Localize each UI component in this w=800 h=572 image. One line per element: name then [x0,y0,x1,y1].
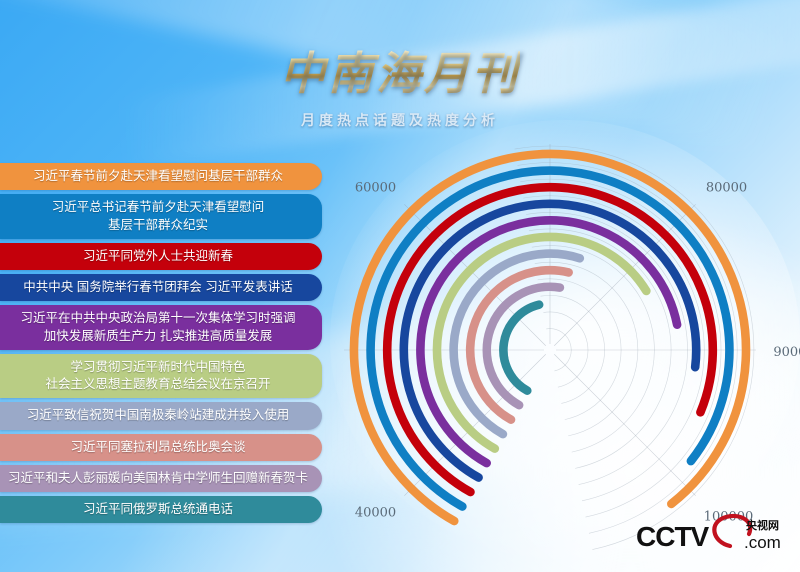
topic-legend-label: 习近平同塞拉利昂总统比奥会谈 [70,439,245,456]
topic-legend-item[interactable]: 习近平春节前夕赴天津看望慰问基层干部群众 [0,163,322,190]
topic-legend-item[interactable]: 习近平在中共中央政治局第十一次集体学习时强调 加快发展新质生产力 扎实推进高质量… [0,305,322,350]
grid-ring [520,179,721,517]
header: 中南海月刊 月度热点话题及热度分析 [0,48,800,130]
topic-legend-item[interactable]: 习近平同党外人士共迎新春 [0,243,322,270]
cctv-cn-text: 央视网 [746,518,779,532]
topic-legend-label: 习近平同俄罗斯总统通电话 [83,501,233,518]
axis-tick-label: 90000 [773,345,800,360]
radial-bar-arc[interactable] [503,305,539,391]
infographic-canvas: 中南海月刊 月度热点话题及热度分析 习近平春节前夕赴天津看望慰问基层干部群众习近… [0,0,800,572]
topic-legend-item[interactable]: 习近平致信祝贺中国南极秦岭站建成并投入使用 [0,402,322,429]
radial-chart-svg: 400005000060000700008000090000100000 [330,140,800,560]
topic-legend-label: 习近平和夫人彭丽媛向美国林肯中学师生回赠新春贺卡 [8,470,308,487]
page-subtitle: 月度热点话题及热度分析 [0,110,800,130]
topic-legend-label: 中共中央 国务院举行春节团拜会 习近平发表讲话 [23,279,292,296]
topic-legend-label: 习近平同党外人士共迎新春 [83,248,233,265]
topic-legend-label: 习近平致信祝贺中国南极秦岭站建成并投入使用 [27,407,290,424]
topic-legend-item[interactable]: 习近平同俄罗斯总统通电话 [0,496,322,523]
topic-legend-label: 习近平在中共中央政治局第十一次集体学习时强调 加快发展新质生产力 扎实推进高质量… [20,310,295,345]
topic-legend-item[interactable]: 习近平总书记春节前夕赴天津看望慰问 基层干部群众纪实 [0,194,322,239]
radial-bar-chart: 400005000060000700008000090000100000 [330,140,800,560]
axis-tick-label: 40000 [355,506,396,521]
page-title: 中南海月刊 [280,48,520,100]
axis-tick-label: 80000 [706,181,747,196]
topic-legend-item[interactable]: 习近平同塞拉利昂总统比奥会谈 [0,434,322,461]
cctv-wordmark: CCTV [636,521,710,552]
axis-tick-label: 60000 [355,181,396,196]
cctv-logo: CCTV 央视网 .com [634,512,784,556]
topic-legend-item[interactable]: 学习贯彻习近平新时代中国特色 社会主义思想主题教育总结会议在京召开 [0,354,322,399]
topic-legend-item[interactable]: 中共中央 国务院举行春节团拜会 习近平发表讲话 [0,274,322,301]
topic-legend-list: 习近平春节前夕赴天津看望慰问基层干部群众习近平总书记春节前夕赴天津看望慰问 基层… [0,163,340,527]
cctv-com-text: .com [744,533,781,552]
topic-legend-label: 习近平总书记春节前夕赴天津看望慰问 基层干部群众纪实 [52,199,265,234]
topic-legend-item[interactable]: 习近平和夫人彭丽媛向美国林肯中学师生回赠新春贺卡 [0,465,322,492]
topic-legend-label: 学习贯彻习近平新时代中国特色 社会主义思想主题教育总结会议在京召开 [45,359,270,394]
grid-spoke [554,354,695,495]
topic-legend-label: 习近平春节前夕赴天津看望慰问基层干部群众 [33,168,283,185]
